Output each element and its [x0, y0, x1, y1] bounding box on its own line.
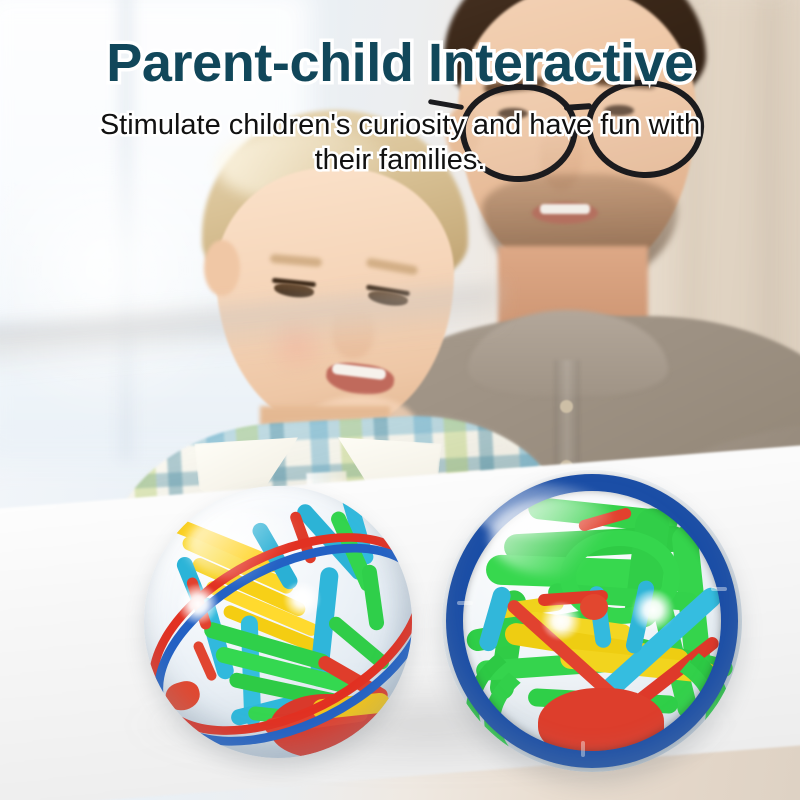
ring-seam: [457, 601, 473, 605]
child-ear: [204, 240, 240, 296]
light-glint: [176, 584, 220, 624]
page-subtitle: Stimulate children's curiosity and have …: [0, 108, 800, 179]
page-title: Parent-child Interactive: [0, 32, 800, 94]
adult-teeth: [540, 204, 590, 214]
ring-seam: [581, 741, 585, 757]
light-glint: [282, 582, 322, 616]
puzzle-ball-left: [144, 486, 412, 758]
promo-banner: Parent-child Interactive Stimulate child…: [0, 0, 800, 800]
adult-shirt-button: [560, 400, 573, 413]
puzzle-ball-right: [442, 470, 742, 772]
light-glint: [630, 590, 676, 630]
light-glint: [540, 602, 582, 640]
ring-seam: [711, 587, 727, 591]
ring-highlight: [472, 484, 612, 538]
